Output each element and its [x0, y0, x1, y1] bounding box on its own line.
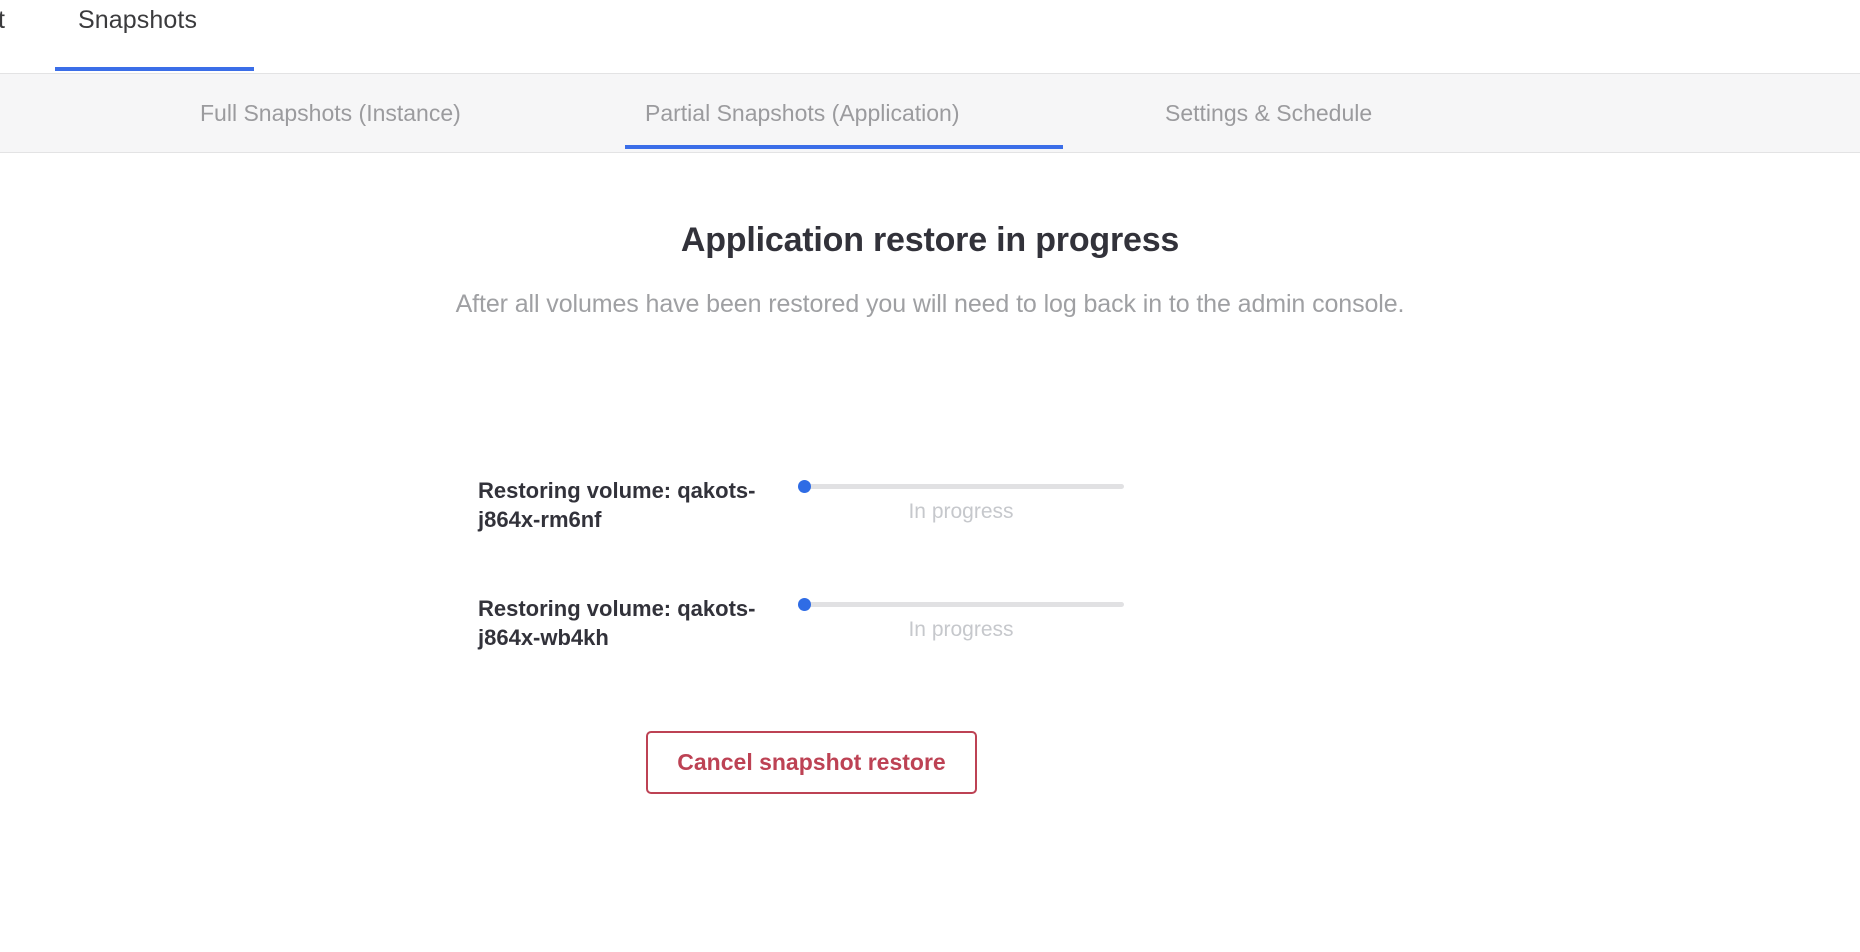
primary-tab-bar: nt Snapshots — [0, 0, 1860, 74]
restore-volume-label: Restoring volume: qakots-j864x-rm6nf — [478, 476, 778, 534]
restore-progress-list: Restoring volume: qakots-j864x-rm6nf In … — [478, 476, 1378, 712]
secondary-tab-bar: Full Snapshots (Instance) Partial Snapsh… — [0, 74, 1860, 153]
subtab-active-indicator — [625, 145, 1063, 149]
restore-status-label: In progress — [798, 618, 1124, 642]
restore-progress: In progress — [798, 484, 1124, 489]
restore-progress: In progress — [798, 602, 1124, 607]
progress-dot-icon — [798, 598, 811, 611]
progress-track — [798, 602, 1124, 607]
tab-snapshots-active-indicator — [55, 67, 254, 71]
tab-truncated[interactable]: nt — [0, 0, 5, 74]
subtab-partial-snapshots-application[interactable]: Partial Snapshots (Application) — [645, 74, 960, 152]
restore-row: Restoring volume: qakots-j864x-rm6nf In … — [478, 476, 1378, 594]
subtab-settings-and-schedule[interactable]: Settings & Schedule — [1165, 74, 1372, 152]
restore-row: Restoring volume: qakots-j864x-wb4kh In … — [478, 594, 1378, 712]
page-title: Application restore in progress — [0, 221, 1860, 260]
page-subtitle: After all volumes have been restored you… — [0, 290, 1860, 319]
restore-status-label: In progress — [798, 500, 1124, 524]
subtab-full-snapshots-instance[interactable]: Full Snapshots (Instance) — [200, 74, 461, 152]
progress-dot-icon — [798, 480, 811, 493]
restore-volume-label: Restoring volume: qakots-j864x-wb4kh — [478, 594, 778, 652]
tab-snapshots[interactable]: Snapshots — [78, 0, 197, 74]
main-content: Application restore in progress After al… — [0, 153, 1860, 952]
cancel-snapshot-restore-button[interactable]: Cancel snapshot restore — [646, 731, 977, 794]
progress-track — [798, 484, 1124, 489]
